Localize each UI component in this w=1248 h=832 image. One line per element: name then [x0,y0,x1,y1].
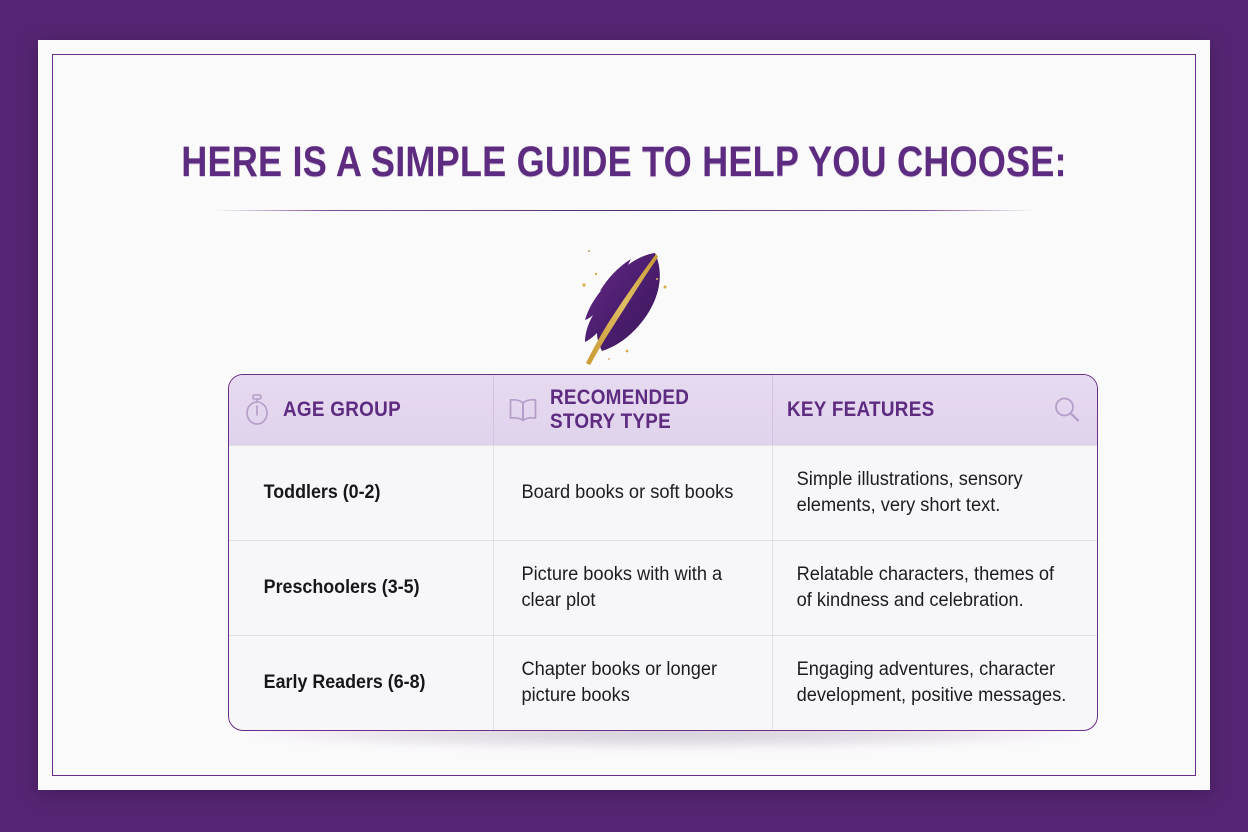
sparkle-dot [664,286,667,289]
header-label-story-type: RECOMENDED STORY TYPE [550,386,689,433]
key-features-value: Simple illustrations, sensory elements, … [787,467,1070,518]
cell-age-group: Preschoolers (3-5) [229,541,493,635]
header-label-story-type-line1: RECOMENDED [550,386,689,409]
sparkle-dot [608,358,610,360]
info-card: HERE IS A SIMPLE GUIDE TO HELP YOU CHOOS… [38,40,1210,790]
table-row: Preschoolers (3-5) Picture books with wi… [229,540,1097,635]
title-block: HERE IS A SIMPLE GUIDE TO HELP YOU CHOOS… [38,136,1210,211]
feather-shaft [586,254,658,365]
sparkle-dot [656,278,658,280]
header-cell-story-type: RECOMENDED STORY TYPE [493,375,772,445]
stopwatch-icon [243,394,271,426]
cell-age-group: Early Readers (6-8) [229,636,493,730]
story-type-value: Chapter books or longer picture books [508,657,748,708]
sparkle-dot [626,350,629,353]
open-book-icon [508,397,538,423]
feather-illustration [38,238,1210,374]
guide-table: AGE GROUP RECOMENDED STORY TYPE [228,374,1098,731]
cell-key-features: Relatable characters, themes of of kindn… [772,541,1096,635]
age-group-value: Early Readers (6-8) [243,672,426,694]
cell-story-type: Picture books with with a clear plot [493,541,772,635]
feather-quill-icon [569,241,679,371]
header-label-key-features: KEY FEATURES [787,398,934,421]
table-header-row: AGE GROUP RECOMENDED STORY TYPE [229,375,1097,445]
story-type-value: Board books or soft books [508,480,733,506]
page-title: HERE IS A SIMPLE GUIDE TO HELP YOU CHOOS… [132,136,1116,190]
header-cell-age-group: AGE GROUP [229,375,493,445]
key-features-value: Relatable characters, themes of of kindn… [787,562,1070,613]
cell-key-features: Simple illustrations, sensory elements, … [772,446,1096,540]
header-label-age-group: AGE GROUP [283,398,401,421]
cell-age-group: Toddlers (0-2) [229,446,493,540]
sparkle-dot [588,250,590,252]
table-row: Toddlers (0-2) Board books or soft books… [229,445,1097,540]
header-cell-key-features: KEY FEATURES [772,375,1096,445]
table-row: Early Readers (6-8) Chapter books or lon… [229,635,1097,730]
key-features-value: Engaging adventures, character developme… [787,657,1070,708]
story-type-value: Picture books with with a clear plot [508,562,748,613]
cell-story-type: Chapter books or longer picture books [493,636,772,730]
cell-story-type: Board books or soft books [493,446,772,540]
cell-key-features: Engaging adventures, character developme… [772,636,1096,730]
age-group-value: Toddlers (0-2) [243,482,380,504]
feather-vane [585,253,660,351]
magnifying-glass-icon [1052,395,1082,425]
sparkle-dot [595,273,597,275]
title-divider [214,210,1034,212]
header-label-story-type-line2: STORY TYPE [550,410,671,433]
age-group-value: Preschoolers (3-5) [243,577,420,599]
sparkle-dot [582,283,585,286]
